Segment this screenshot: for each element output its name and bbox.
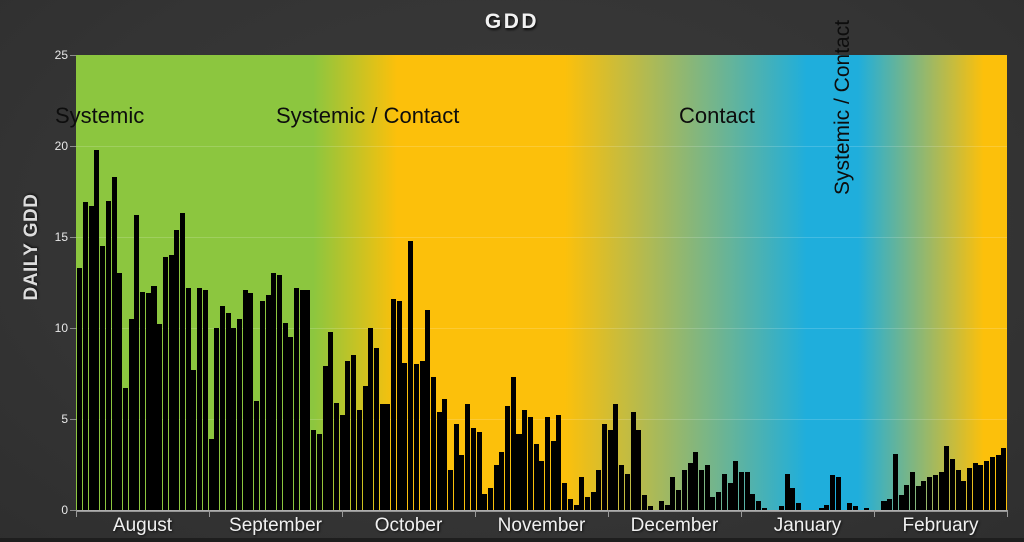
- bar: [881, 501, 886, 510]
- bar: [516, 434, 521, 510]
- bar: [545, 417, 550, 510]
- bar: [186, 288, 191, 510]
- bar: [619, 465, 624, 511]
- bar: [197, 288, 202, 510]
- bar: [961, 481, 966, 510]
- bar: [203, 290, 208, 510]
- bar: [887, 499, 892, 510]
- bar: [642, 495, 647, 510]
- bar: [591, 492, 596, 510]
- bar: [77, 268, 82, 510]
- x-tick-mark: [874, 510, 875, 517]
- bar: [117, 273, 122, 510]
- bar: [978, 465, 983, 511]
- bar: [100, 246, 105, 510]
- bar: [112, 177, 117, 510]
- bar: [745, 472, 750, 510]
- bar: [134, 215, 139, 510]
- bar: [585, 497, 590, 510]
- bar-series: [76, 55, 1007, 510]
- bar: [836, 477, 841, 510]
- zone-label-contact: Contact: [679, 103, 755, 129]
- y-tick-label: 5: [34, 412, 68, 426]
- bar: [830, 475, 835, 510]
- bar: [465, 404, 470, 510]
- bar: [899, 495, 904, 510]
- plot-area: [76, 55, 1007, 510]
- bar: [967, 468, 972, 510]
- bar: [733, 461, 738, 510]
- bar: [408, 241, 413, 510]
- bar: [499, 452, 504, 510]
- bar: [739, 472, 744, 510]
- gdd-chart-screenshot: GDD DAILY GDD 0510152025 Systemic System…: [0, 0, 1024, 542]
- bar: [226, 313, 231, 510]
- bar: [477, 432, 482, 510]
- bar: [89, 206, 94, 510]
- bar: [921, 481, 926, 510]
- bar: [317, 434, 322, 510]
- x-axis-label-december: December: [631, 515, 719, 537]
- y-tick-label: 0: [34, 503, 68, 517]
- bar: [231, 328, 236, 510]
- bar: [157, 324, 162, 510]
- zone-label-systemic-contact: Systemic / Contact: [276, 103, 459, 129]
- bar: [939, 472, 944, 510]
- bar: [437, 412, 442, 510]
- bar: [260, 301, 265, 510]
- bar: [756, 501, 761, 510]
- bar: [670, 477, 675, 510]
- bar: [847, 503, 852, 510]
- bar: [750, 494, 755, 510]
- bar: [950, 459, 955, 510]
- bar: [916, 486, 921, 510]
- bar: [796, 503, 801, 510]
- bar: [534, 444, 539, 510]
- x-axis-label-september: September: [229, 515, 322, 537]
- bar: [556, 415, 561, 510]
- bar: [522, 410, 527, 510]
- bar: [368, 328, 373, 510]
- bar: [283, 323, 288, 510]
- bar: [209, 439, 214, 510]
- bar: [944, 446, 949, 510]
- bar: [710, 497, 715, 510]
- bar: [328, 332, 333, 510]
- bar: [334, 403, 339, 510]
- bar: [146, 293, 151, 510]
- x-axis-line: [76, 510, 1007, 512]
- y-axis-title: DAILY GDD: [21, 167, 43, 327]
- bottom-strip: [0, 538, 1024, 542]
- bar: [562, 483, 567, 510]
- bar: [448, 470, 453, 510]
- bar: [220, 306, 225, 510]
- bar: [380, 404, 385, 510]
- bar: [699, 470, 704, 510]
- x-tick-mark: [209, 510, 210, 517]
- bar: [363, 386, 368, 510]
- y-tick-label: 20: [34, 139, 68, 153]
- bar: [248, 293, 253, 510]
- bar: [579, 477, 584, 510]
- bar: [454, 424, 459, 510]
- bar: [459, 455, 464, 510]
- bar: [625, 474, 630, 510]
- bar: [266, 295, 271, 510]
- bar: [790, 488, 795, 510]
- bar: [676, 490, 681, 510]
- x-axis-label-october: October: [375, 515, 443, 537]
- bar: [893, 454, 898, 510]
- bar: [83, 202, 88, 510]
- bar: [402, 363, 407, 510]
- bar: [288, 337, 293, 510]
- bar: [151, 286, 156, 510]
- bar: [357, 410, 362, 510]
- bar: [311, 430, 316, 510]
- bar: [528, 417, 533, 510]
- zone-label-systemic: Systemic: [55, 103, 144, 129]
- bar: [631, 412, 636, 510]
- bar: [163, 257, 168, 510]
- bar: [214, 328, 219, 510]
- bar: [345, 361, 350, 510]
- bar: [494, 465, 499, 511]
- bar: [728, 483, 733, 510]
- x-tick-mark: [741, 510, 742, 517]
- bar: [722, 474, 727, 510]
- x-axis-label-february: February: [902, 515, 978, 537]
- bar: [568, 499, 573, 510]
- bar: [140, 292, 145, 510]
- bar: [551, 441, 556, 510]
- x-tick-mark: [1007, 510, 1008, 517]
- bar: [659, 501, 664, 510]
- bar: [277, 275, 282, 510]
- y-tick-label: 10: [34, 321, 68, 335]
- bar: [471, 428, 476, 510]
- bar: [391, 299, 396, 510]
- bar: [180, 213, 185, 510]
- bar: [973, 463, 978, 510]
- bar: [1001, 448, 1006, 510]
- bar: [688, 463, 693, 510]
- x-tick-mark: [475, 510, 476, 517]
- bar: [414, 364, 419, 510]
- bar: [294, 288, 299, 510]
- x-axis-label-january: January: [774, 515, 842, 537]
- bar: [420, 361, 425, 510]
- x-tick-mark: [76, 510, 77, 517]
- y-tick-label: 15: [34, 230, 68, 244]
- bar: [106, 201, 111, 510]
- bar: [300, 290, 305, 510]
- bar: [693, 452, 698, 510]
- bar: [243, 290, 248, 510]
- bar: [910, 472, 915, 510]
- bar: [482, 494, 487, 510]
- x-tick-mark: [342, 510, 343, 517]
- bar: [385, 404, 390, 510]
- bar: [705, 465, 710, 511]
- bar: [488, 488, 493, 510]
- bar: [94, 150, 99, 510]
- bar: [431, 377, 436, 510]
- bar: [990, 457, 995, 510]
- bar: [129, 319, 134, 510]
- bar: [425, 310, 430, 510]
- zone-label-systemic-contact-vertical: Systemic / Contact: [831, 20, 855, 195]
- bar: [271, 273, 276, 510]
- bar: [682, 470, 687, 510]
- bar: [933, 475, 938, 510]
- bar: [169, 255, 174, 510]
- bar: [636, 430, 641, 510]
- bar: [397, 301, 402, 510]
- page-title: GDD: [0, 10, 1024, 34]
- bar: [442, 399, 447, 510]
- bar: [237, 319, 242, 510]
- bar: [323, 366, 328, 510]
- bar: [505, 406, 510, 510]
- bar: [174, 230, 179, 510]
- bar: [191, 370, 196, 510]
- bar: [374, 348, 379, 510]
- bar: [956, 470, 961, 510]
- bar: [602, 424, 607, 510]
- bar: [351, 355, 356, 510]
- bar: [123, 388, 128, 510]
- y-tick-label: 25: [34, 48, 68, 62]
- bar: [785, 474, 790, 510]
- x-tick-mark: [608, 510, 609, 517]
- bar: [596, 470, 601, 510]
- bar: [340, 415, 345, 510]
- bar: [904, 485, 909, 510]
- bar: [608, 430, 613, 510]
- bar: [613, 404, 618, 510]
- x-axis-label-november: November: [498, 515, 586, 537]
- bar: [996, 455, 1001, 510]
- x-axis-label-august: August: [113, 515, 172, 537]
- bar: [927, 477, 932, 510]
- bar: [716, 492, 721, 510]
- bar: [254, 401, 259, 510]
- bar: [511, 377, 516, 510]
- bar: [305, 290, 310, 510]
- bar: [984, 461, 989, 510]
- bar: [539, 461, 544, 510]
